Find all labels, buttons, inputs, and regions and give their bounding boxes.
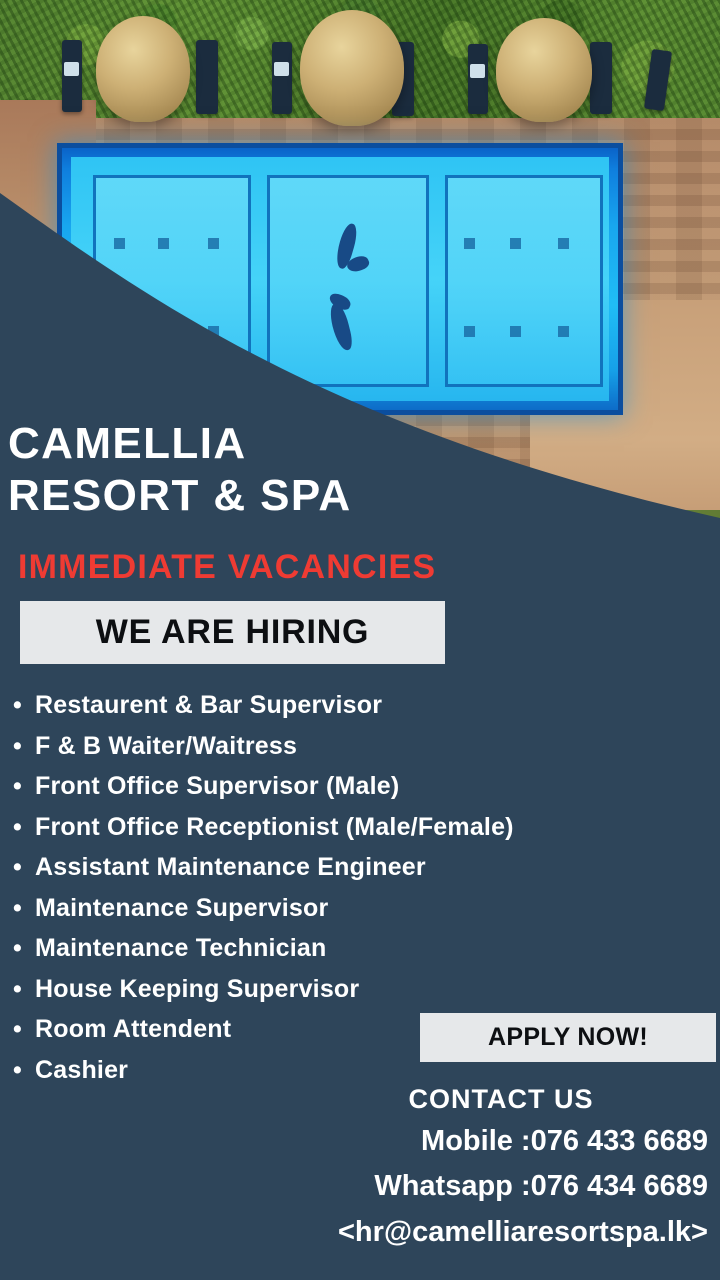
job-title: Assistant Maintenance Engineer xyxy=(35,853,426,881)
bullet-icon: • xyxy=(13,807,35,848)
bullet-icon: • xyxy=(13,969,35,1010)
brand-title: CAMELLIA RESORT & SPA xyxy=(8,418,708,522)
bullet-icon: • xyxy=(13,766,35,807)
job-title: Front Office Receptionist (Male/Female) xyxy=(35,813,514,841)
job-list-item: •House Keeping Supervisor xyxy=(13,969,713,1010)
bullet-icon: • xyxy=(13,1009,35,1050)
brand-line-1: CAMELLIA xyxy=(8,418,708,470)
we-are-hiring-label: WE ARE HIRING xyxy=(96,613,370,652)
contact-us-heading: CONTACT US xyxy=(0,1084,712,1115)
job-title: Maintenance Technician xyxy=(35,934,327,962)
bullet-icon: • xyxy=(13,847,35,888)
job-list-item: •Front Office Supervisor (Male) xyxy=(13,766,713,807)
job-list-item: •Maintenance Technician xyxy=(13,928,713,969)
job-title: Restaurent & Bar Supervisor xyxy=(35,691,382,719)
job-title: F & B Waiter/Waitress xyxy=(35,732,297,760)
we-are-hiring-banner: WE ARE HIRING xyxy=(20,601,445,664)
bullet-icon: • xyxy=(13,685,35,726)
apply-now-label: APPLY NOW! xyxy=(488,1023,648,1052)
contact-whatsapp[interactable]: Whatsapp :076 434 6689 xyxy=(374,1170,708,1203)
job-title: Room Attendent xyxy=(35,1015,231,1043)
job-title: Maintenance Supervisor xyxy=(35,894,328,922)
job-list-item: •Maintenance Supervisor xyxy=(13,888,713,929)
job-list-item: •Restaurent & Bar Supervisor xyxy=(13,685,713,726)
bullet-icon: • xyxy=(13,928,35,969)
vacancies-headline: IMMEDIATE VACANCIES xyxy=(18,548,436,587)
job-list-item: •Assistant Maintenance Engineer xyxy=(13,847,713,888)
apply-now-button[interactable]: APPLY NOW! xyxy=(420,1013,716,1062)
job-list-item: •Front Office Receptionist (Male/Female) xyxy=(13,807,713,848)
job-title: House Keeping Supervisor xyxy=(35,975,359,1003)
job-list-item: •F & B Waiter/Waitress xyxy=(13,726,713,767)
job-title: Front Office Supervisor (Male) xyxy=(35,772,399,800)
contact-mobile[interactable]: Mobile :076 433 6689 xyxy=(421,1125,708,1158)
bullet-icon: • xyxy=(13,888,35,929)
brand-line-2: RESORT & SPA xyxy=(8,470,708,522)
bullet-icon: • xyxy=(13,726,35,767)
job-title: Cashier xyxy=(35,1056,128,1084)
contact-email[interactable]: <hr@camelliaresortspa.lk> xyxy=(338,1216,708,1249)
